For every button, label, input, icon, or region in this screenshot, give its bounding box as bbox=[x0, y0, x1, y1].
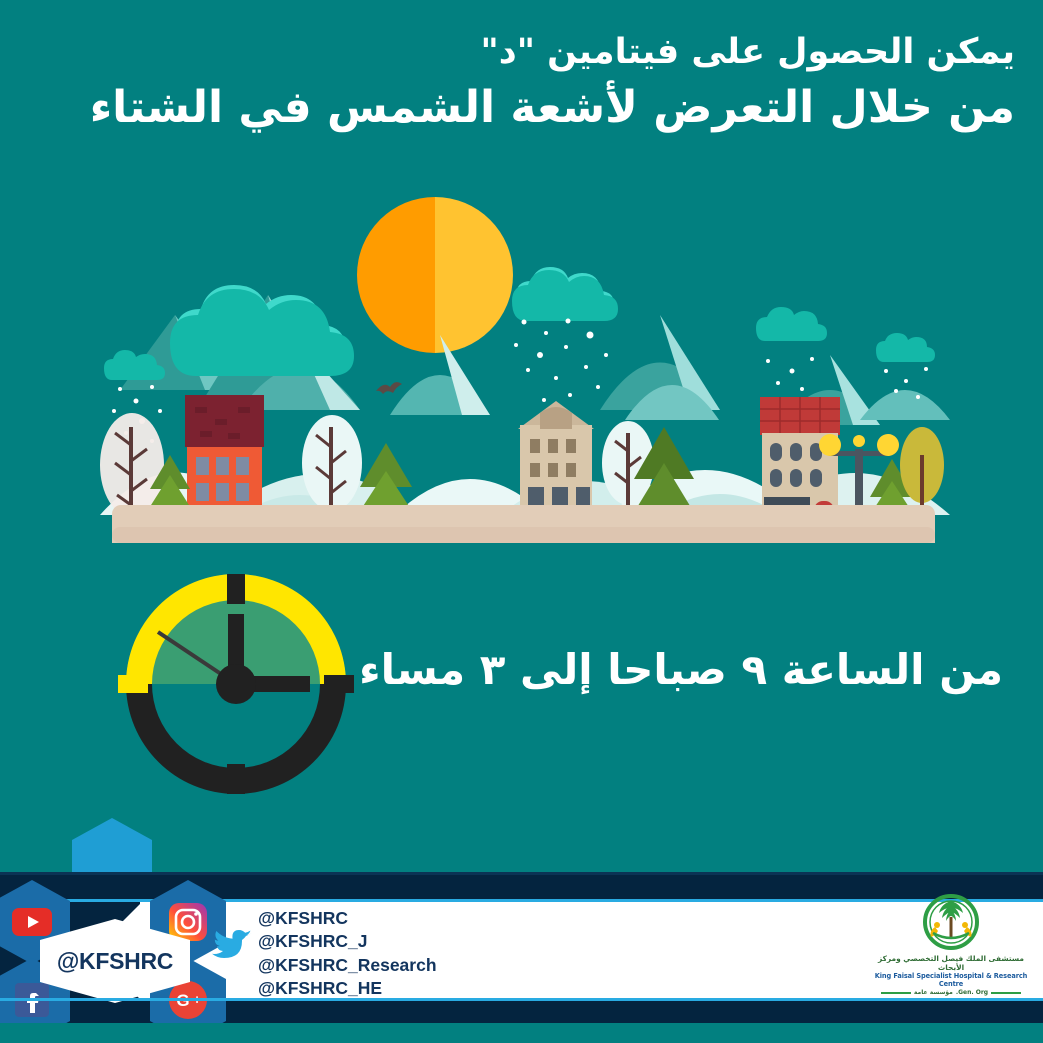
twitter-icon-wrap[interactable] bbox=[212, 928, 254, 968]
logo-subtitle-ar: مؤسسة عامة bbox=[914, 989, 953, 996]
logo-subtitle: Gen. Org. مؤسسة عامة bbox=[866, 989, 1036, 996]
bird-icon bbox=[376, 382, 402, 394]
logo-english-name: King Faisal Specialist Hospital & Resear… bbox=[866, 972, 1036, 988]
social-handles-list: @KFSHRC @KFSHRC_J @KFSHRC_Research @KFSH… bbox=[258, 907, 437, 1000]
headline: يمكن الحصول على فيتامين "د" من خلال التع… bbox=[28, 30, 1015, 137]
clock-tick-12 bbox=[227, 574, 245, 604]
handle-item-0[interactable]: @KFSHRC bbox=[258, 907, 437, 930]
handle-item-2[interactable]: @KFSHRC_Research bbox=[258, 954, 437, 977]
hospital-logo: مستشفى الملك فيصل التخصصي ومركز الأبحاث … bbox=[866, 893, 1036, 997]
handle-item-1[interactable]: @KFSHRC_J bbox=[258, 930, 437, 953]
headline-line-1: يمكن الحصول على فيتامين "د" bbox=[28, 30, 1015, 76]
logo-text-block: مستشفى الملك فيصل التخصصي ومركز الأبحاث … bbox=[866, 954, 1036, 996]
logo-arabic-name: مستشفى الملك فيصل التخصصي ومركز الأبحاث bbox=[866, 954, 1036, 972]
brand-handle-label: @KFSHRC bbox=[57, 948, 173, 975]
clock-tick-3 bbox=[324, 675, 354, 693]
clock-illustration bbox=[96, 556, 376, 816]
handle-item-3[interactable]: @KFSHRC_HE bbox=[258, 977, 437, 1000]
logo-rule-left bbox=[991, 992, 1021, 994]
infographic-poster: يمكن الحصول على فيتامين "د" من خلال التع… bbox=[0, 0, 1043, 1043]
footer-accent-line-bottom bbox=[0, 998, 1043, 1001]
winter-landscape-illustration bbox=[0, 175, 1043, 550]
time-range-text: من الساعة ٩ صباحا إلى ٣ مساء bbox=[359, 645, 1003, 694]
cloud-medium bbox=[512, 267, 618, 321]
youtube-icon bbox=[12, 908, 52, 936]
cloud-large bbox=[170, 285, 354, 376]
clock-center-hub bbox=[216, 664, 256, 704]
logo-rule-right bbox=[881, 992, 911, 994]
cloud-small-mid bbox=[756, 307, 827, 341]
clock-tick-9 bbox=[118, 675, 148, 693]
logo-subtitle-en: Gen. Org. bbox=[956, 989, 988, 996]
instagram-icon bbox=[169, 903, 207, 941]
cloud-small-right bbox=[876, 333, 935, 362]
twitter-icon bbox=[212, 928, 254, 964]
headline-line-2: من خلال التعرض لأشعة الشمس في الشتاء bbox=[28, 78, 1015, 137]
clock-tick-6 bbox=[227, 764, 245, 794]
sun-icon bbox=[357, 197, 513, 353]
hospital-crest-icon bbox=[919, 893, 983, 953]
bottom-teal-strip bbox=[0, 1023, 1043, 1043]
footer-top-divider bbox=[0, 872, 1043, 875]
